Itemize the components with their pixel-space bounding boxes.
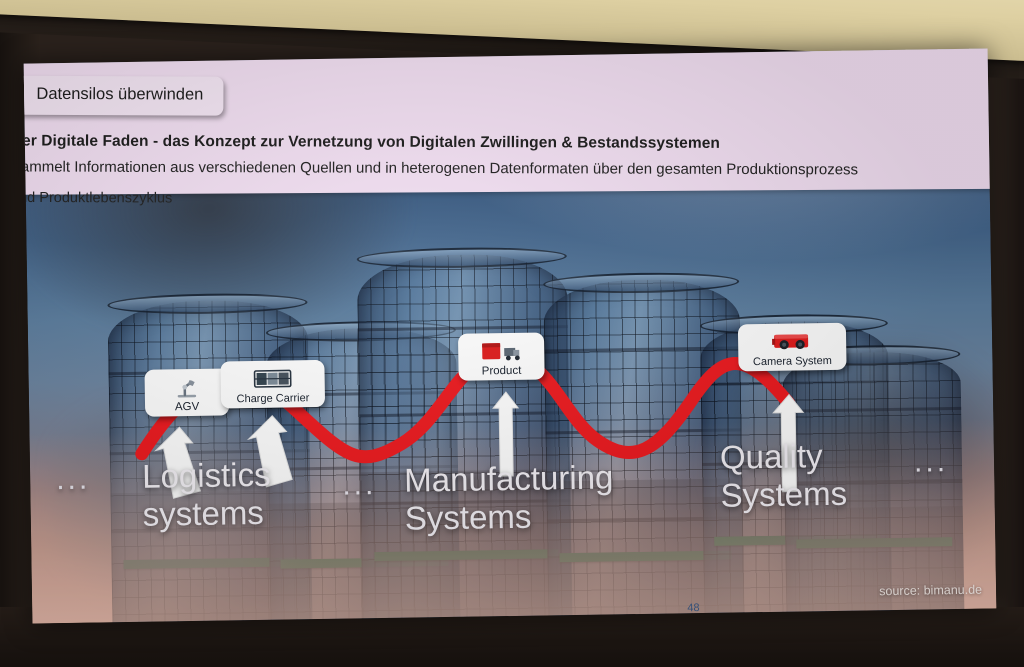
- ellipsis-right: ...: [914, 445, 949, 480]
- pillar-label-quality: Quality Systems: [720, 437, 848, 515]
- pillar-label-quality-line1: Quality: [720, 437, 847, 477]
- ellipsis-middle: ...: [342, 468, 377, 503]
- charge-carrier-icon: [252, 365, 292, 392]
- slide-source-credit: source: bimanu.de: [879, 583, 982, 599]
- card-camera-system-label: Camera System: [753, 355, 832, 368]
- card-agv-label: AGV: [175, 401, 199, 413]
- card-product-label: Product: [482, 365, 522, 378]
- product-box-truck-icon: [480, 338, 522, 365]
- pillar-label-quality-line2: Systems: [720, 475, 847, 515]
- header-line-1: Der Digitale Faden - das Konzept zur Ver…: [24, 132, 941, 153]
- camera-icon: [770, 328, 814, 355]
- robot-arm-icon: [174, 374, 200, 400]
- card-product[interactable]: Product: [458, 332, 545, 380]
- ellipsis-left: ...: [56, 463, 91, 498]
- pillar-label-manufacturing: Manufacturing Systems: [404, 458, 614, 537]
- slide-page-number: 48: [687, 602, 699, 614]
- projected-slide: AGV Charge Carrier: [24, 48, 997, 623]
- card-camera-system[interactable]: Camera System: [738, 323, 847, 372]
- pillar-label-logistics-line1: Logistics: [142, 456, 271, 496]
- slide-title-badge: Datensilos überwinden: [24, 76, 224, 116]
- pillar-label-logistics: Logistics systems: [142, 456, 272, 534]
- room-photo: AGV Charge Carrier: [0, 0, 1024, 667]
- card-charge-carrier[interactable]: Charge Carrier: [220, 360, 325, 409]
- card-agv[interactable]: AGV: [144, 368, 229, 416]
- slide-header-band: Datensilos überwinden Der Digitale Faden…: [24, 48, 997, 195]
- header-line-3: und Produktlebenszyklus: [24, 188, 631, 211]
- pillar-label-manufacturing-line2: Systems: [405, 496, 615, 537]
- card-charge-carrier-label: Charge Carrier: [236, 392, 309, 405]
- pillar-label-logistics-line2: systems: [142, 494, 271, 534]
- header-line-2: Sammelt Informationen aus verschiedenen …: [24, 158, 941, 178]
- pillar-label-manufacturing-line1: Manufacturing: [404, 458, 614, 499]
